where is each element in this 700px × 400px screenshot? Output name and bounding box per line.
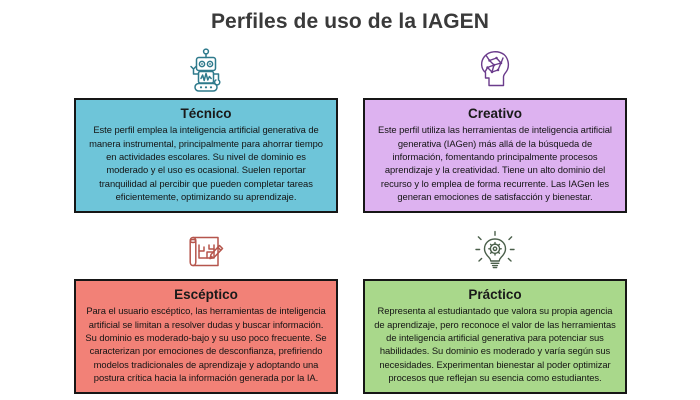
profile-body-creativo: Este perfil utiliza las herramientas de … — [374, 123, 616, 203]
profile-body-practico: Representa al estudiantado que valora su… — [374, 304, 616, 384]
lightbulb-gear-icon — [473, 225, 517, 277]
profile-cell-practico: Práctico Representa al estudiantado que … — [363, 225, 627, 394]
profile-card-practico: Práctico Representa al estudiantado que … — [363, 279, 627, 394]
profile-title-creativo: Creativo — [468, 106, 522, 122]
profile-cell-creativo: Creativo Este perfil utiliza las herrami… — [363, 44, 627, 213]
profile-card-creativo: Creativo Este perfil utiliza las herrami… — [363, 98, 627, 213]
profile-title-tecnico: Técnico — [180, 106, 231, 122]
profile-card-esceptico: Escéptico Para el usuario escéptico, las… — [74, 279, 338, 394]
profile-cell-tecnico: Técnico Este perfil emplea la inteligenc… — [74, 44, 338, 213]
infographic-page: Perfiles de uso de la IAGEN — [0, 0, 700, 400]
profile-body-esceptico: Para el usuario escéptico, las herramien… — [85, 304, 327, 384]
profile-cell-esceptico: Escéptico Para el usuario escéptico, las… — [74, 225, 338, 394]
profile-body-tecnico: Este perfil emplea la inteligencia artif… — [85, 123, 327, 203]
page-title: Perfiles de uso de la IAGEN — [0, 10, 700, 34]
blueprint-pencil-icon — [184, 225, 228, 277]
profile-grid: Técnico Este perfil emplea la inteligenc… — [74, 44, 627, 394]
robot-icon — [184, 44, 228, 96]
profile-title-practico: Práctico — [468, 287, 521, 303]
brain-head-icon — [473, 44, 517, 96]
profile-title-esceptico: Escéptico — [174, 287, 238, 303]
profile-card-tecnico: Técnico Este perfil emplea la inteligenc… — [74, 98, 338, 213]
